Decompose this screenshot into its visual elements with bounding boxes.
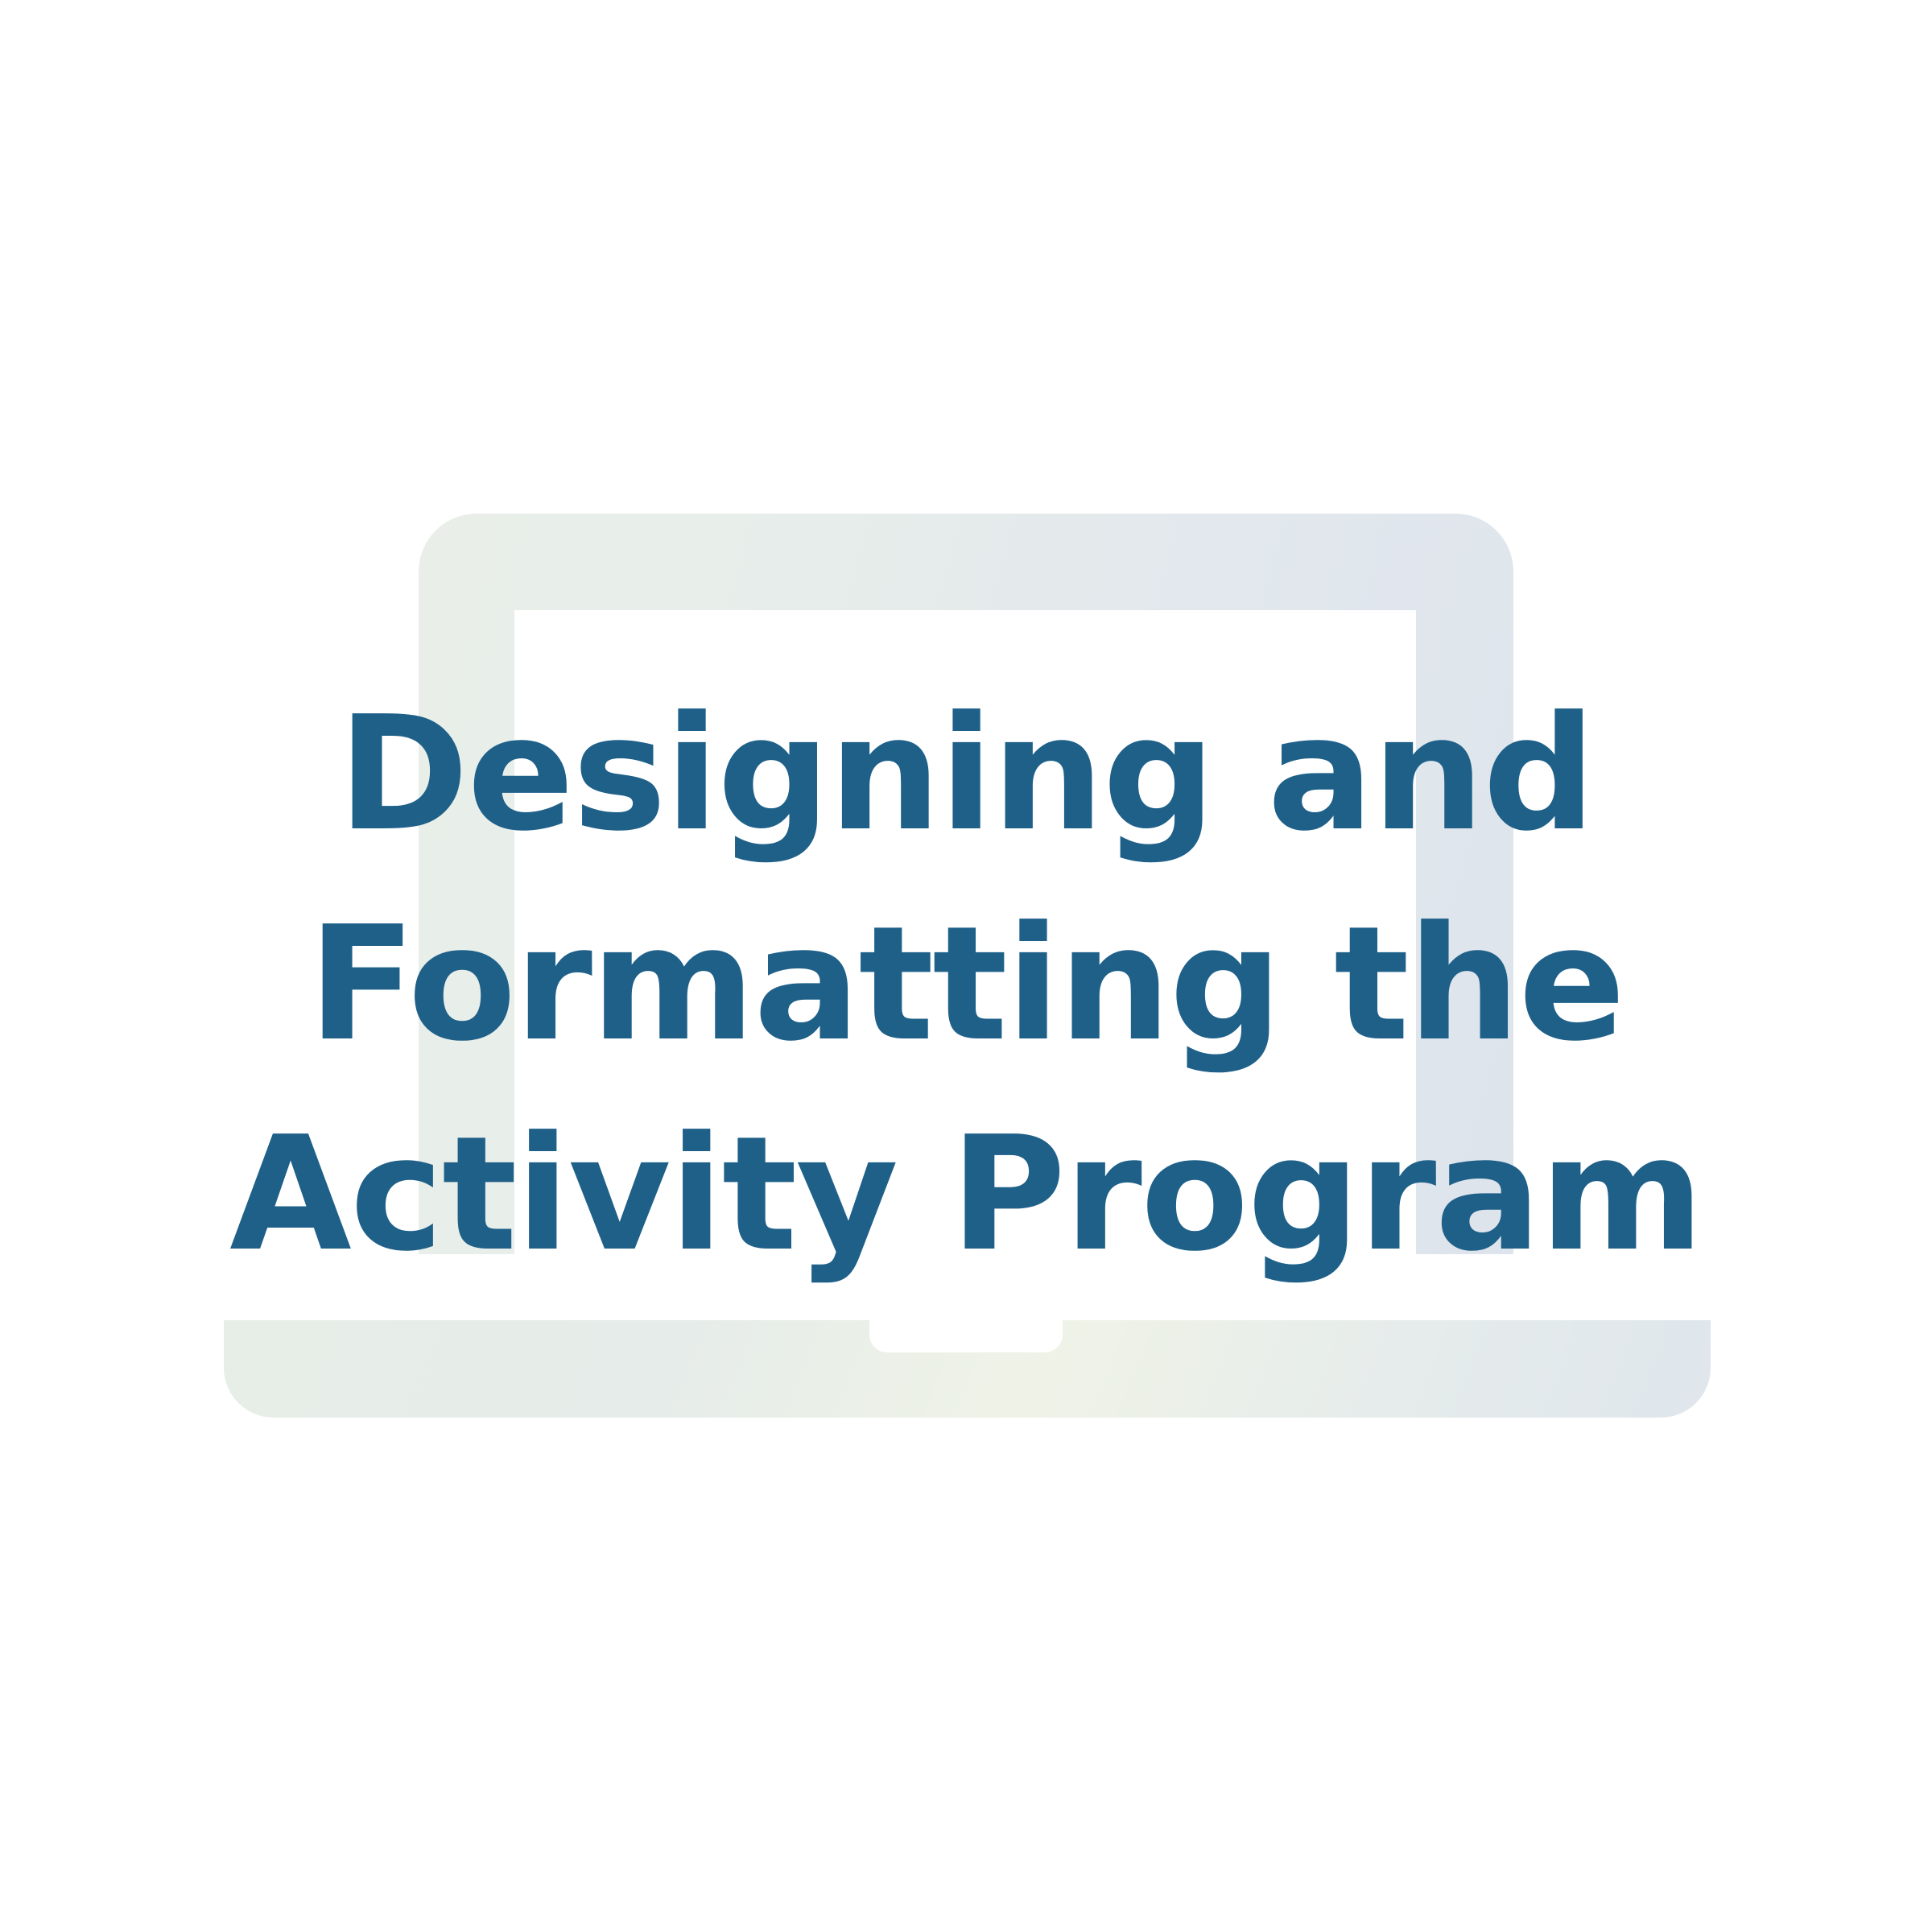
laptop-illustration (0, 0, 1932, 1932)
laptop-hinge-notch (869, 1320, 1063, 1352)
slide-canvas: Designing and Formatting the Activity Pr… (0, 0, 1932, 1932)
laptop-screen-area (514, 610, 1416, 1254)
